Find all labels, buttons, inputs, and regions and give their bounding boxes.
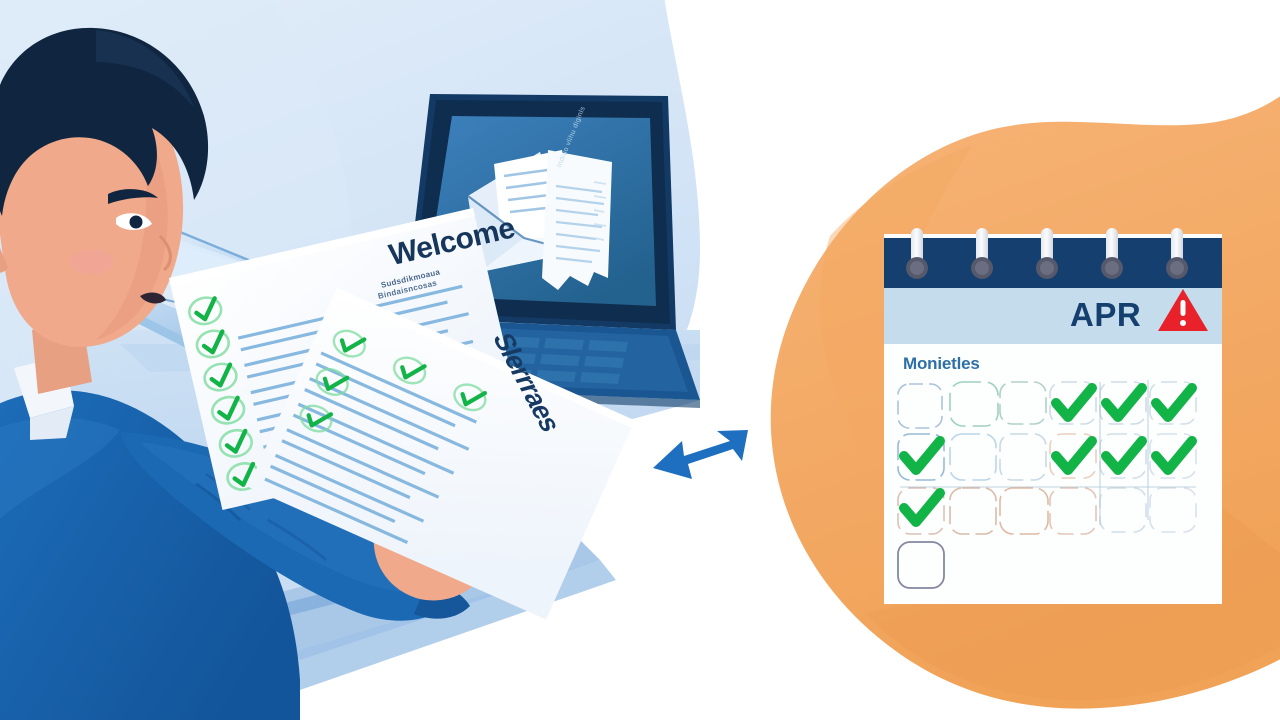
illustration-canvas: Welcome Sudsdikmoaua Bindaisncosas Slerr… <box>0 0 1280 720</box>
calendar-layer <box>0 0 1280 720</box>
calendar <box>884 228 1222 604</box>
